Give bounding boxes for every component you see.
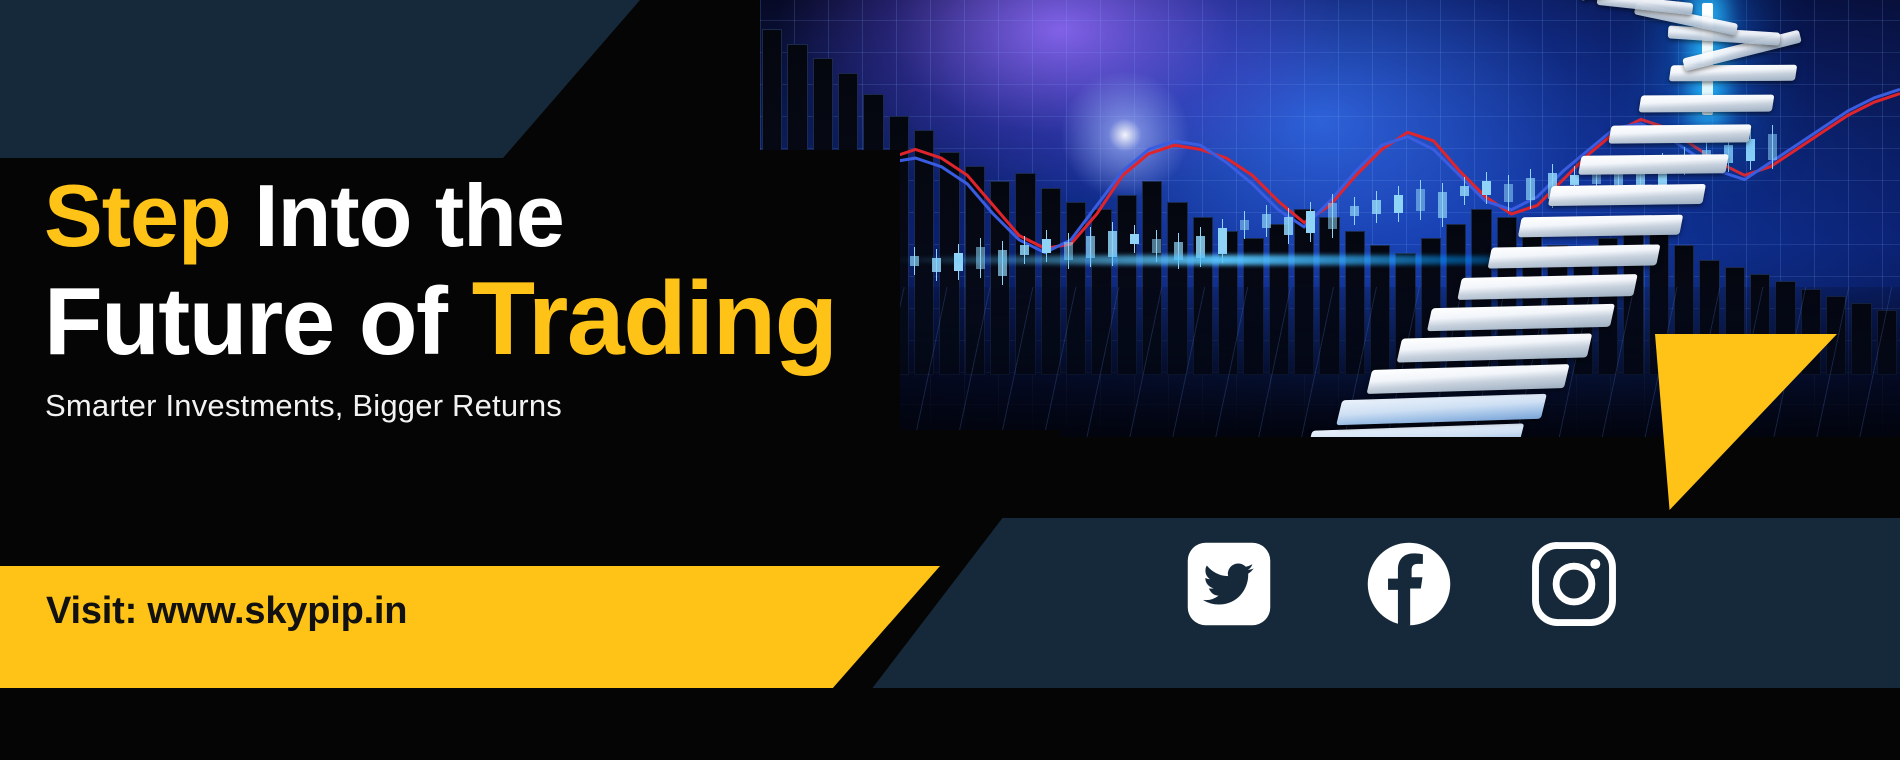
candlestick: [1108, 231, 1117, 257]
stair-book: [1518, 214, 1683, 237]
stair-book: [1366, 364, 1569, 394]
candlestick: [1020, 245, 1029, 255]
stair-book: [1548, 184, 1706, 206]
stair-book: [1397, 334, 1593, 363]
subtitle: Smarter Investments, Bigger Returns: [45, 388, 562, 424]
headline-rest-2: Future of: [44, 268, 446, 375]
social-links: Twitter Facebook Instagram: [1185, 540, 1785, 660]
candlestick: [1240, 220, 1249, 230]
stair-book: [1578, 154, 1729, 174]
stair-book: [1608, 124, 1751, 143]
headline-rest-1: Into the: [254, 166, 564, 265]
visit-cta-text[interactable]: Visit: www.skypip.in: [46, 590, 407, 633]
stair-book: [1427, 304, 1615, 331]
stair-book: [1306, 423, 1525, 437]
candlestick: [1284, 217, 1293, 235]
social-link-instagram[interactable]: Instagram: [1530, 540, 1618, 628]
instagram-icon: [1530, 540, 1618, 628]
social-link-twitter[interactable]: Twitter: [1185, 540, 1273, 628]
headline-line-2: Future of Trading: [44, 263, 944, 375]
black-bottom-bar: [0, 686, 1900, 760]
candlestick: [1262, 214, 1271, 228]
social-link-facebook[interactable]: Facebook: [1365, 540, 1453, 628]
book-staircase: [1300, 0, 1900, 437]
candlestick: [1130, 234, 1139, 244]
stair-book: [1336, 394, 1547, 426]
marketing-banner: Step Into the Future of Trading Smarter …: [0, 0, 1900, 760]
candlestick: [1152, 239, 1161, 253]
candlestick: [1042, 239, 1051, 253]
headline-highlight-trading: Trading: [472, 261, 837, 377]
stair-book: [1639, 94, 1775, 112]
headline-highlight-step: Step: [44, 166, 231, 265]
facebook-icon: [1365, 540, 1453, 628]
page-title: Step Into the Future of Trading: [44, 168, 944, 375]
candlestick: [1218, 228, 1227, 254]
stair-book: [1457, 274, 1637, 300]
twitter-icon: [1185, 540, 1273, 628]
navy-top-band: [0, 0, 640, 158]
headline-line-1: Step Into the: [44, 168, 944, 263]
stair-book: [1488, 244, 1661, 268]
